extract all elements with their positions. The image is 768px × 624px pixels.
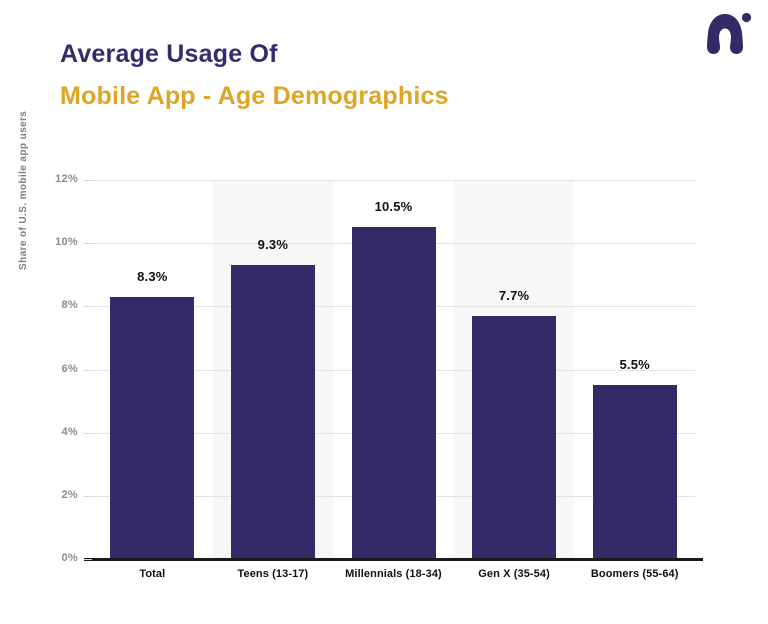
y-axis-tick-label: 2% — [18, 489, 78, 501]
y-axis-tick-label: 0% — [18, 552, 78, 564]
bar-chart: Share of U.S. mobile app users 0%2%4%6%8… — [0, 0, 768, 624]
y-axis-tick — [84, 306, 92, 307]
y-axis-tick — [84, 559, 92, 560]
y-axis-tick-label: 10% — [18, 236, 78, 248]
bar-value-label: 7.7% — [454, 288, 574, 303]
bar[interactable] — [472, 316, 556, 559]
y-axis-tick — [84, 370, 92, 371]
bar[interactable] — [352, 227, 436, 559]
y-axis-tick — [84, 496, 92, 497]
bar-value-label: 8.3% — [92, 269, 212, 284]
y-axis-tick-label: 12% — [18, 173, 78, 185]
y-axis-tick-label: 8% — [18, 299, 78, 311]
gridline — [92, 180, 695, 181]
x-axis-baseline — [84, 558, 703, 561]
bar[interactable] — [231, 265, 315, 559]
bar[interactable] — [593, 385, 677, 559]
bar-value-label: 9.3% — [213, 237, 333, 252]
y-axis-tick — [84, 180, 92, 181]
y-axis-tick — [84, 243, 92, 244]
bar-value-label: 10.5% — [334, 199, 454, 214]
y-axis-tick-label: 6% — [18, 363, 78, 375]
bar-value-label: 5.5% — [575, 357, 695, 372]
bar[interactable] — [110, 297, 194, 559]
y-axis-tick-label: 4% — [18, 426, 78, 438]
x-axis-tick-label: Boomers (55-64) — [555, 568, 715, 580]
y-axis-tick — [84, 433, 92, 434]
